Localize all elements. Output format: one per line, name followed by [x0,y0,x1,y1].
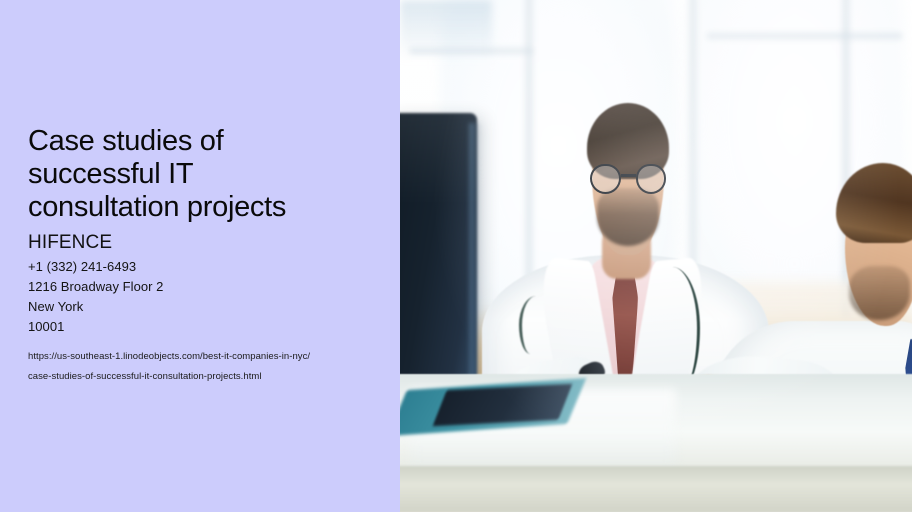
address-city: New York [28,297,382,317]
keyboard [433,383,573,425]
eyeglass-bridge [621,174,636,176]
head-right [830,163,912,330]
window-mullion-horizontal-right [707,31,902,41]
source-url[interactable]: https://us-southeast-1.linodeobjects.com… [28,347,382,387]
beard-right [849,266,910,319]
page-title: Case studies of successful IT consultati… [28,125,348,224]
photo-scene [400,0,912,512]
eyeglass-lens-left [590,164,620,194]
eyeglass-lens-right [636,164,666,194]
address-zip: 10001 [28,317,382,337]
hair-right [836,163,912,243]
desk-edge [400,466,912,512]
head-center [585,103,671,255]
hero-photo [400,0,912,512]
address-street: 1216 Broadway Floor 2 [28,277,382,297]
beard-center [597,188,659,246]
phone-number[interactable]: +1 (332) 241-6493 [28,257,382,277]
source-url-line-2[interactable]: case-studies-of-successful-it-consultati… [28,367,382,387]
monitor-edge-highlight [469,123,480,399]
link-preview-card: Case studies of successful IT consultati… [0,0,912,512]
eyeglasses-icon [590,164,666,194]
window-frame-top-left [400,0,492,61]
brand-name: HIFENCE [28,231,382,254]
source-url-line-1[interactable]: https://us-southeast-1.linodeobjects.com… [28,347,382,367]
info-panel: Case studies of successful IT consultati… [0,0,400,512]
stethoscope-tube-left [519,296,548,354]
computer-monitor [400,113,477,410]
